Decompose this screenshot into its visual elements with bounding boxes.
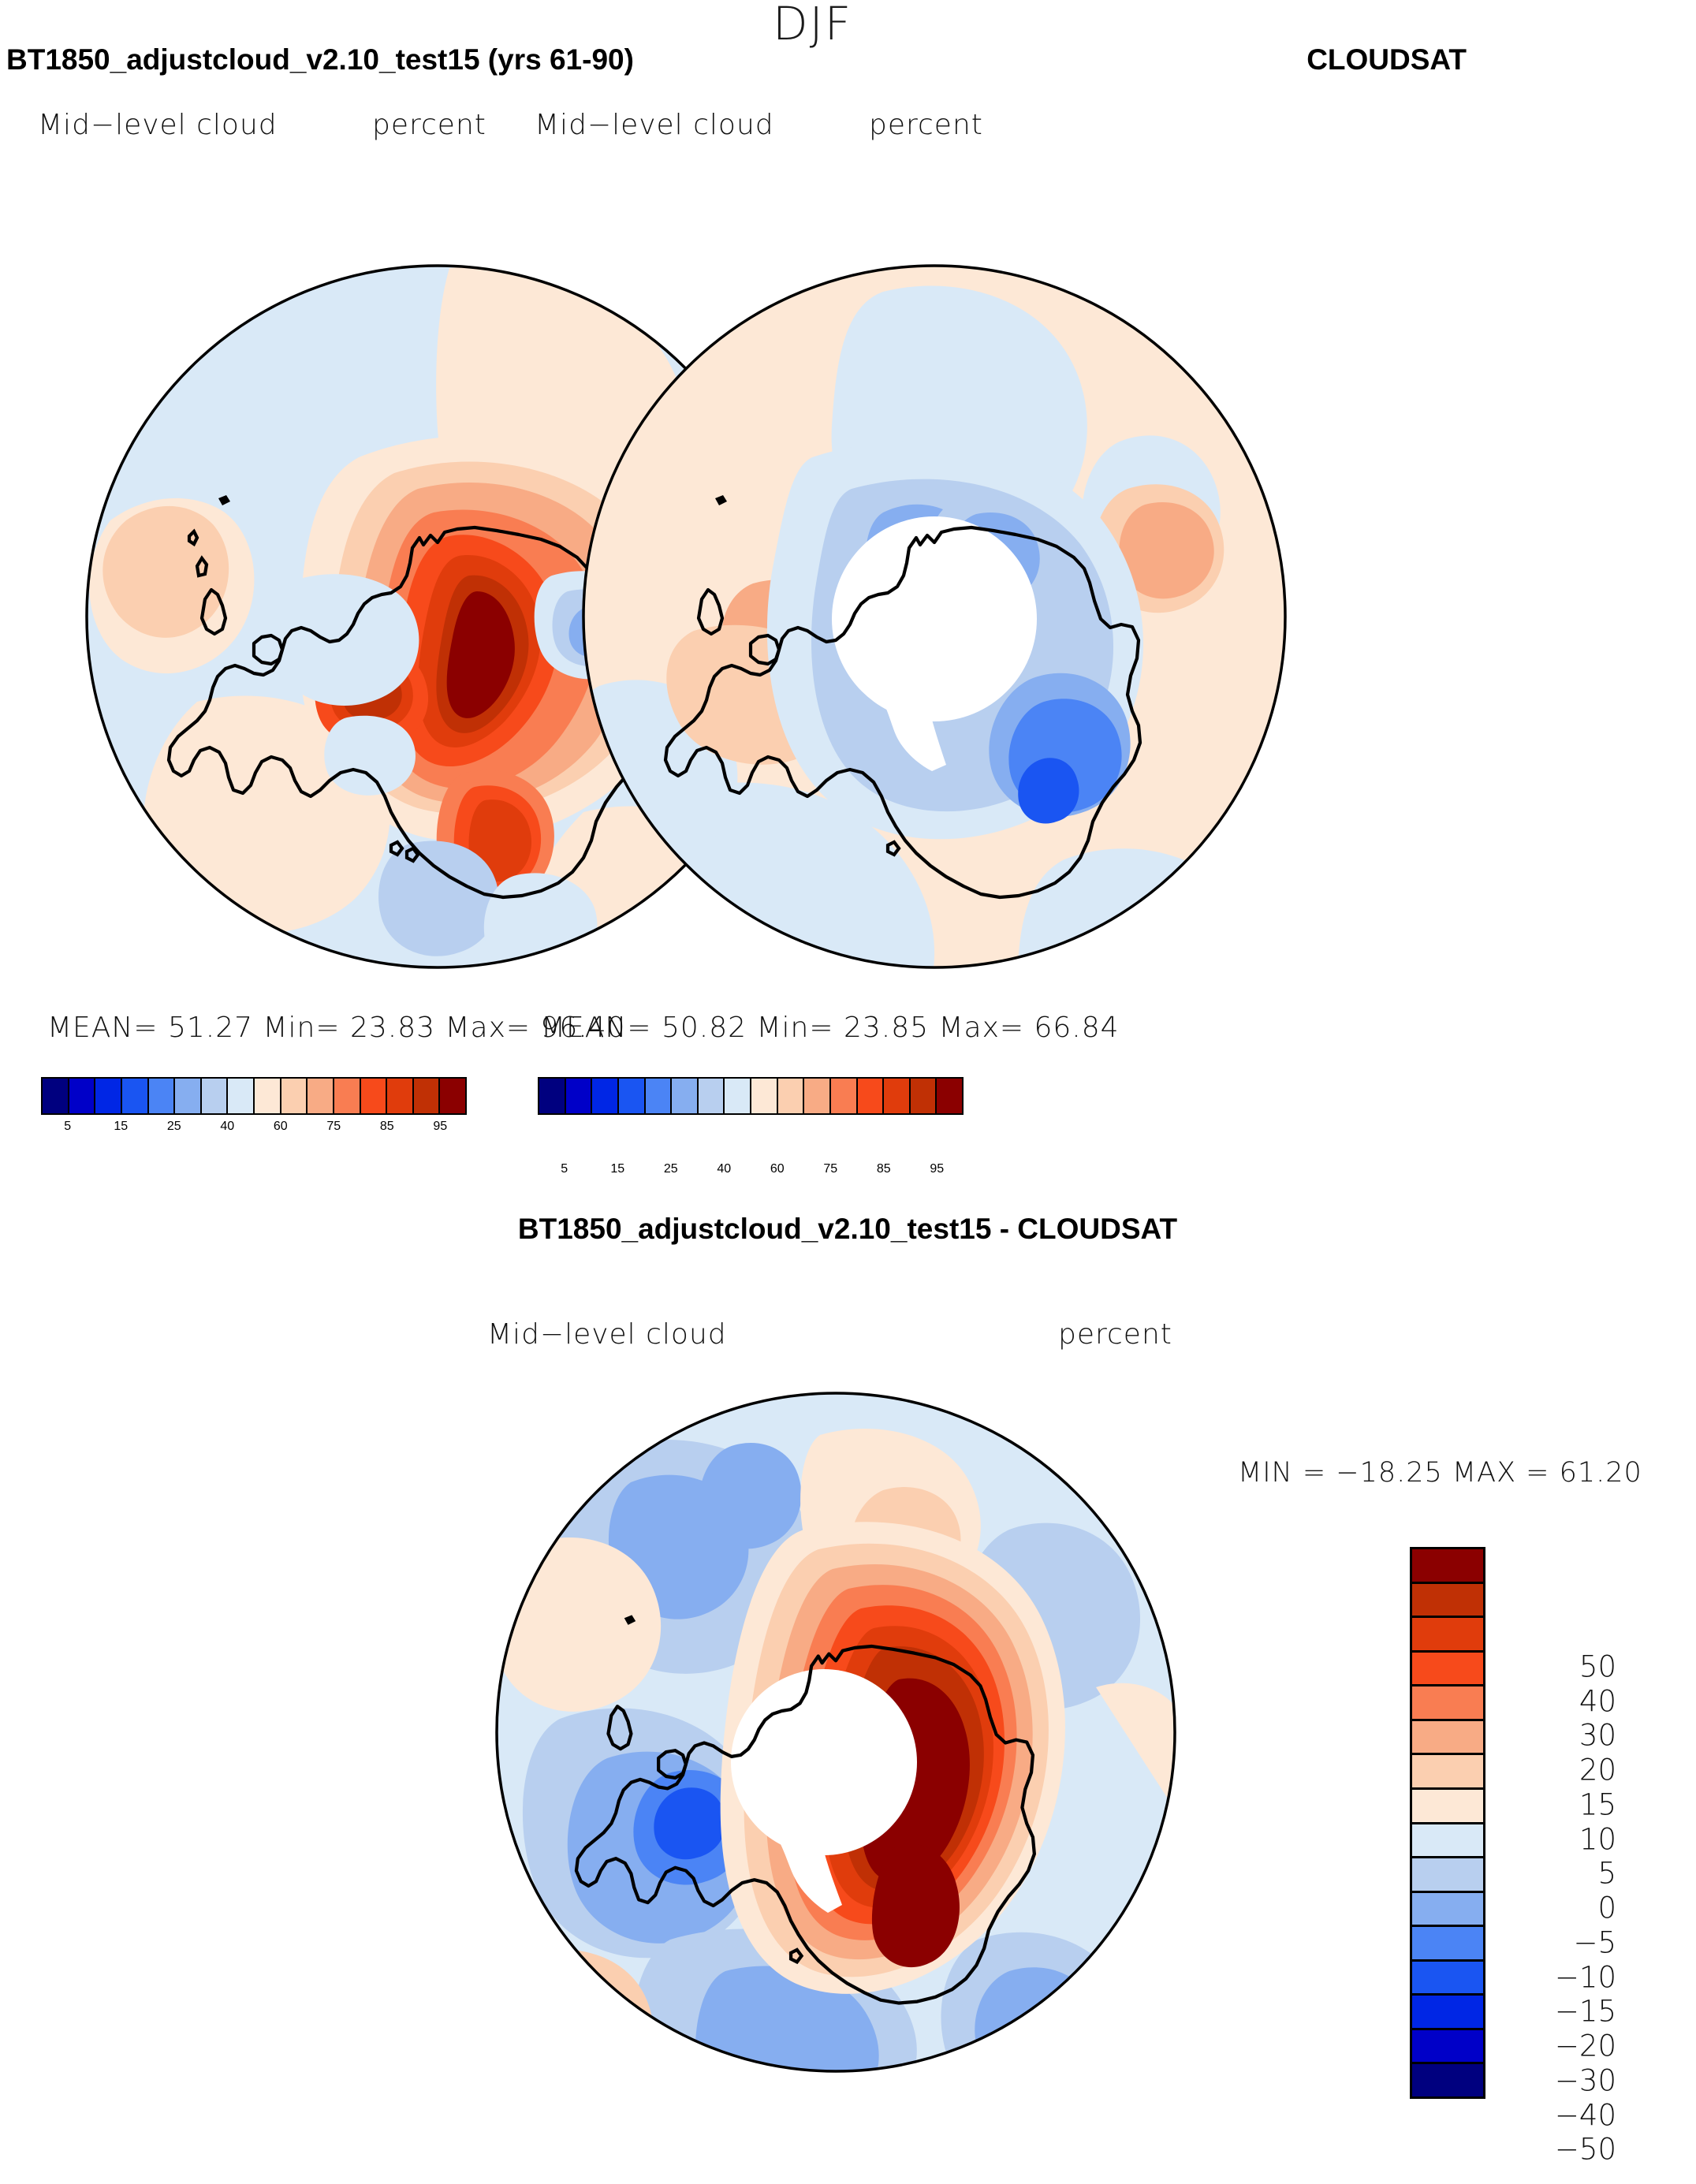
colorbar-swatch [308, 1079, 334, 1113]
colorbar-swatch [937, 1079, 962, 1113]
colorbar-tick-label: 40 [1498, 1684, 1616, 1718]
season-title: DJF [773, 0, 852, 50]
colorbar-swatch [592, 1079, 619, 1113]
obs-map [576, 260, 1293, 978]
colorbar-swatch [1412, 1858, 1483, 1893]
colorbar-swatch [1412, 1653, 1483, 1687]
colorbar-swatch [255, 1079, 281, 1113]
colorbar-swatch [566, 1079, 593, 1113]
colorbar-swatch [95, 1079, 122, 1113]
colorbar-tick-label: 30 [1498, 1719, 1616, 1753]
colorbar-tick-label: 60 [770, 1162, 785, 1176]
colorbar-swatch [619, 1079, 646, 1113]
colorbar-swatch [699, 1079, 725, 1113]
colorbar-tick-label: 95 [930, 1162, 944, 1176]
model-panel-title: BT1850_adjustcloud_v2.10_test15 (yrs 61-… [6, 43, 634, 76]
colorbar-tick-label: 75 [326, 1120, 341, 1134]
colorbar-tick-label: 25 [664, 1162, 678, 1176]
colorbar-tick-label: 20 [1498, 1754, 1616, 1787]
model-colorbar [41, 1077, 467, 1115]
colorbar-swatch [672, 1079, 699, 1113]
colorbar-tick-label: −30 [1498, 2063, 1616, 2097]
colorbar-swatch [440, 1079, 465, 1113]
colorbar-swatch [1412, 1893, 1483, 1928]
colorbar-swatch [1412, 1996, 1483, 2030]
colorbar-swatch [334, 1079, 361, 1113]
colorbar-tick-label: 85 [380, 1120, 394, 1134]
colorbar-tick-label: 10 [1498, 1822, 1616, 1856]
colorbar-swatch [387, 1079, 414, 1113]
colorbar-swatch [646, 1079, 673, 1113]
colorbar-tick-label: 95 [433, 1120, 447, 1134]
colorbar-tick-label: 40 [717, 1162, 731, 1176]
colorbar-tick-label: 25 [167, 1120, 181, 1134]
diff-panel-title: BT1850_adjustcloud_v2.10_test15 - CLOUDS… [518, 1213, 1177, 1246]
colorbar-tick-label: 60 [274, 1120, 288, 1134]
colorbar-tick-label: −50 [1498, 2133, 1616, 2167]
colorbar-swatch [202, 1079, 229, 1113]
colorbar-swatch [725, 1079, 751, 1113]
diff-colorbar-ticks: 50403020151050−5−10−15−20−30−40−50 [1498, 1632, 1656, 2184]
model-stats: MEAN= 51.27 Min= 23.83 Max= 96.40 [47, 1012, 626, 1044]
obs-units-label: percent [869, 109, 983, 141]
colorbar-tick-label: 40 [220, 1120, 234, 1134]
colorbar-swatch [831, 1079, 858, 1113]
obs-colorbar-ticks: 515254060758595 [538, 1162, 964, 1205]
diff-map [489, 1388, 1183, 2082]
colorbar-tick-label: 85 [877, 1162, 891, 1176]
colorbar-swatch [1412, 1618, 1483, 1653]
colorbar-tick-label: −20 [1498, 2029, 1616, 2063]
colorbar-swatch [414, 1079, 441, 1113]
colorbar-swatch [281, 1079, 308, 1113]
diff-minmax: MIN = −18.25 MAX = 61.20 [1238, 1457, 1642, 1489]
colorbar-tick-label: 50 [1498, 1649, 1616, 1683]
colorbar-swatch [361, 1079, 388, 1113]
colorbar-swatch [1412, 1790, 1483, 1824]
diff-colorbar [1410, 1547, 1485, 2099]
diff-variable-label: Mid−level cloud [487, 1318, 727, 1351]
colorbar-tick-label: −15 [1498, 1995, 1616, 2029]
colorbar-swatch [1412, 1927, 1483, 1962]
colorbar-tick-label: −10 [1498, 1960, 1616, 1994]
colorbar-tick-label: 75 [823, 1162, 837, 1176]
colorbar-swatch [1412, 1584, 1483, 1619]
colorbar-swatch [1412, 1549, 1483, 1584]
obs-panel-title: CLOUDSAT [1306, 43, 1467, 76]
colorbar-tick-label: 5 [561, 1162, 568, 1176]
colorbar-swatch [1412, 1824, 1483, 1859]
colorbar-swatch [539, 1079, 566, 1113]
colorbar-swatch [1412, 1721, 1483, 1756]
colorbar-tick-label: 5 [1498, 1857, 1616, 1891]
colorbar-tick-label: 5 [64, 1120, 71, 1134]
colorbar-tick-label: 15 [1498, 1787, 1616, 1821]
colorbar-swatch [43, 1079, 69, 1113]
colorbar-tick-label: 15 [114, 1120, 128, 1134]
colorbar-swatch [911, 1079, 937, 1113]
colorbar-swatch [149, 1079, 176, 1113]
colorbar-swatch [858, 1079, 885, 1113]
model-colorbar-ticks: 515254060758595 [41, 1120, 467, 1162]
colorbar-swatch [69, 1079, 96, 1113]
colorbar-tick-label: −5 [1498, 1925, 1616, 1959]
colorbar-swatch [1412, 1686, 1483, 1721]
obs-stats: MEAN= 50.82 Min= 23.85 Max= 66.84 [541, 1012, 1120, 1044]
colorbar-swatch [228, 1079, 255, 1113]
colorbar-tick-label: −40 [1498, 2098, 1616, 2132]
colorbar-swatch [1412, 1962, 1483, 1996]
colorbar-swatch [778, 1079, 805, 1113]
model-variable-label: Mid−level cloud [38, 109, 278, 141]
obs-colorbar [538, 1077, 964, 1115]
colorbar-swatch [122, 1079, 149, 1113]
colorbar-swatch [1412, 2064, 1483, 2096]
colorbar-swatch [1412, 1755, 1483, 1790]
colorbar-swatch [884, 1079, 911, 1113]
colorbar-tick-label: 0 [1498, 1891, 1616, 1925]
model-units-label: percent [372, 109, 486, 141]
colorbar-tick-label: 15 [610, 1162, 624, 1176]
diff-units-label: percent [1058, 1318, 1172, 1351]
colorbar-swatch [751, 1079, 778, 1113]
colorbar-swatch [175, 1079, 202, 1113]
obs-variable-label: Mid−level cloud [535, 109, 774, 141]
colorbar-swatch [1412, 2030, 1483, 2065]
colorbar-swatch [804, 1079, 831, 1113]
